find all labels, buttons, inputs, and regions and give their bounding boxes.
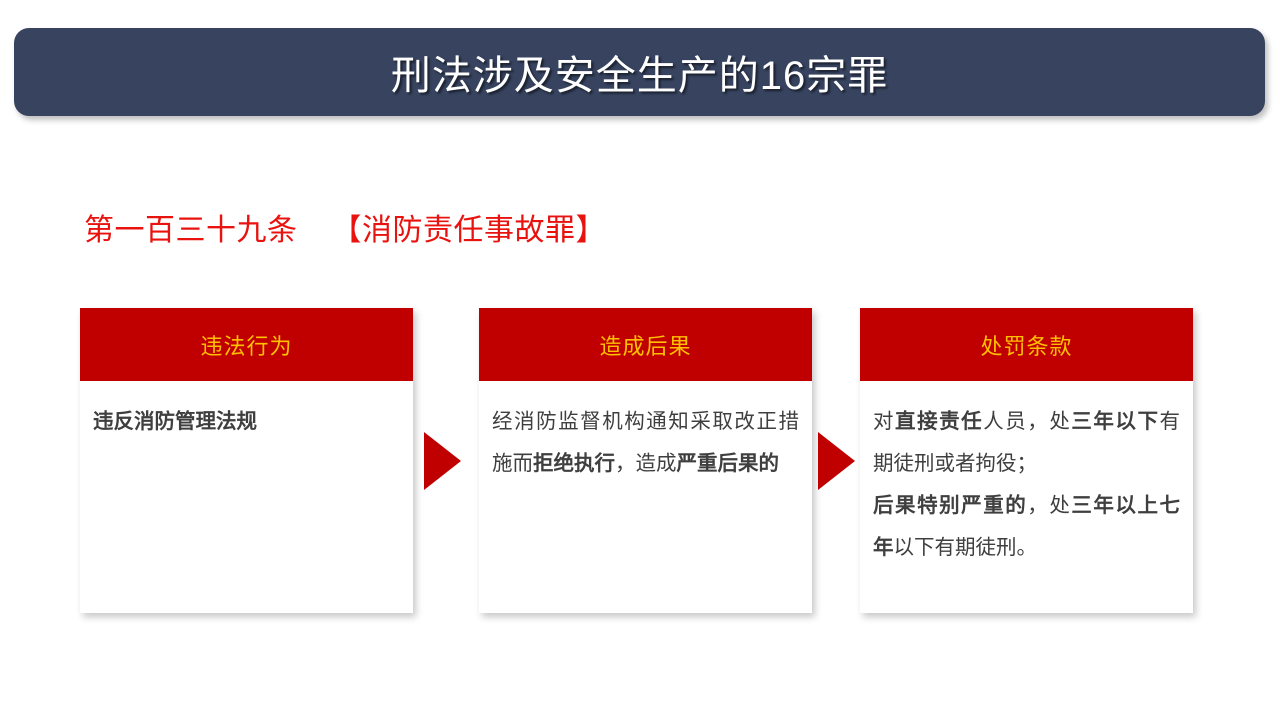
card-illegal-behavior: 违法行为 违反消防管理法规 xyxy=(80,308,413,613)
body-text: 对 xyxy=(873,410,895,433)
card-header-illegal-behavior: 违法行为 xyxy=(80,308,413,381)
card-header-consequence: 造成后果 xyxy=(479,308,812,381)
card-consequence: 造成后果 经消防监督机构通知采取改正措施而拒绝执行，造成严重后果的 xyxy=(479,308,812,613)
card-header-label: 违法行为 xyxy=(200,329,292,361)
body-text: ，造成 xyxy=(615,452,677,475)
card-header-label: 造成后果 xyxy=(599,329,691,361)
card-body-penalty: 对直接责任人员，处三年以下有期徒刑或者拘役；后果特别严重的，处三年以上七年以下有… xyxy=(860,381,1193,569)
emphasis-text: 严重后果的 xyxy=(677,452,780,475)
arrow-right-icon xyxy=(818,432,855,490)
card-header-penalty: 处罚条款 xyxy=(860,308,1193,381)
card-body-illegal-behavior: 违反消防管理法规 xyxy=(80,381,413,443)
article-crime-name: 【消防责任事故罪】 xyxy=(332,214,607,247)
body-text: ，处 xyxy=(1027,494,1071,517)
card-header-label: 处罚条款 xyxy=(980,329,1072,361)
slide-title-banner: 刑法涉及安全生产的16宗罪 xyxy=(14,28,1265,116)
emphasis-text: 违反消防管理法规 xyxy=(93,410,257,433)
arrow-right-icon xyxy=(424,432,461,490)
body-text: 以下有期徒刑。 xyxy=(894,536,1038,559)
article-number: 第一百三十九条 xyxy=(84,214,298,247)
emphasis-text: 后果特别严重的 xyxy=(873,494,1027,517)
card-penalty: 处罚条款 对直接责任人员，处三年以下有期徒刑或者拘役；后果特别严重的，处三年以上… xyxy=(860,308,1193,613)
flow-cards-row: 违法行为 违反消防管理法规 造成后果 经消防监督机构通知采取改正措施而拒绝执行，… xyxy=(0,308,1280,628)
card-body-consequence: 经消防监督机构通知采取改正措施而拒绝执行，造成严重后果的 xyxy=(479,381,812,485)
emphasis-text: 拒绝执行 xyxy=(533,452,615,475)
emphasis-text: 直接责任 xyxy=(895,410,983,433)
body-text: 人员，处 xyxy=(983,410,1071,433)
slide-title: 刑法涉及安全生产的16宗罪 xyxy=(391,43,889,101)
emphasis-text: 三年以下 xyxy=(1071,410,1159,433)
article-heading: 第一百三十九条【消防责任事故罪】 xyxy=(84,205,606,249)
